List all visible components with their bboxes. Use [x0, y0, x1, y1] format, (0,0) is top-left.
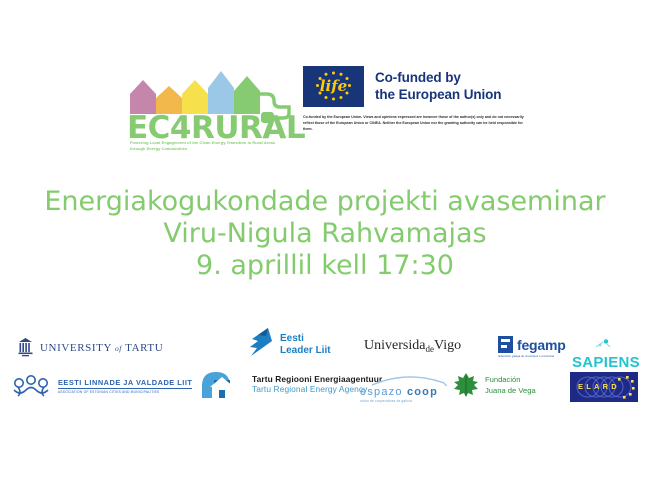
juana-line-1: Fundación	[485, 374, 536, 385]
partner-logo-elard: ELARD	[570, 372, 638, 402]
espazo-word-1: espazo	[360, 386, 403, 398]
partner-logo-sapiens: SAPIENS	[572, 336, 634, 371]
headline-line-3: 9. aprillil kell 17:30	[0, 250, 650, 282]
elvl-subtitle: ASSOCIATION OF ESTONIAN CITIES AND MUNIC…	[58, 390, 192, 394]
partner-logo-eesti-leader-liit: Eesti Leader Liit	[248, 328, 331, 358]
eu-funding-line1: Co-funded by	[375, 70, 501, 87]
eu-flag-life-icon: life	[303, 66, 364, 107]
juana-line-2: Juana de Vega	[485, 385, 536, 396]
espazo-arc-icon	[360, 374, 455, 386]
fegamp-subtitle: federación galega de municipios e provin…	[498, 355, 574, 358]
slide-canvas: EC4RURAL Fostering Local Engagement of t…	[0, 0, 650, 487]
sapiens-sparkle-icon	[572, 339, 634, 349]
tartu-word-tartu: TARTU	[125, 342, 163, 354]
oak-leaf-icon	[452, 372, 480, 398]
svg-text:life: life	[320, 77, 347, 95]
partner-logo-universidade-de-vigo: UniversidadeVigo	[364, 338, 461, 354]
fegamp-f-icon	[498, 336, 513, 353]
eu-funding-line2: the European Union	[375, 87, 501, 104]
elard-wordmark: ELARD	[578, 382, 620, 391]
ell-line-1: Eesti	[280, 333, 331, 345]
espazo-word-2: coop	[407, 386, 438, 398]
ec4rural-logo: EC4RURAL Fostering Local Engagement of t…	[127, 66, 292, 158]
eu-funding-text: Co-funded by the European Union	[375, 70, 501, 104]
sapiens-wordmark: SAPIENS	[572, 354, 634, 371]
tartu-word-university: UNIVERSITY	[40, 342, 112, 354]
partner-logo-university-of-tartu: UNIVERSITY of TARTU	[18, 338, 163, 358]
eu-funding-block: life Co-funded by the European Union Co-…	[303, 66, 533, 132]
espazo-wordmark: espazo coop	[360, 386, 455, 398]
headline-line-2: Viru-Nigula Rahvamajas	[0, 218, 650, 250]
juana-wordmark: Fundación Juana de Vega	[485, 374, 536, 396]
espazo-subtitle: unión de cooperativas de galicia	[360, 399, 455, 403]
tartu-word-of: of	[115, 344, 122, 353]
ornament-crest-icon	[10, 374, 52, 398]
partner-logo-fundacion-juana-de-vega: Fundación Juana de Vega	[452, 372, 536, 398]
ell-wordmark: Eesti Leader Liit	[280, 333, 331, 356]
leader-wing-icon	[248, 328, 276, 358]
house-4-icon	[208, 71, 234, 114]
partner-logo-espazo-coop: espazo coop unión de cooperativas de gal…	[360, 374, 455, 403]
elvl-wordmark: EESTI LINNADE JA VALDADE LIIT ASSOCIATIO…	[58, 378, 192, 395]
tartu-temple-icon	[18, 338, 33, 358]
elvl-title: EESTI LINNADE JA VALDADE LIIT	[58, 378, 192, 389]
headline-line-1: Energiakogukondade projekti avaseminar	[0, 186, 650, 218]
ec4rural-tagline: Fostering Local Engagement of the Clean …	[130, 140, 290, 152]
fegamp-wordmark: fegamp	[517, 337, 566, 353]
house-3-icon	[182, 80, 208, 114]
house-1-icon	[130, 80, 156, 114]
uvigo-part-1: Universida	[364, 338, 425, 353]
eu-disclaimer-text: Co-funded by the European Union. Views a…	[303, 115, 531, 132]
uvigo-part-de: de	[425, 344, 434, 354]
tartu-wordmark: UNIVERSITY of TARTU	[40, 342, 163, 354]
event-headline: Energiakogukondade projekti avaseminar V…	[0, 186, 650, 282]
ell-line-2: Leader Liit	[280, 345, 331, 357]
uvigo-part-3: Vigo	[434, 338, 461, 353]
partner-logo-fegamp: fegamp federación galega de municipios e…	[498, 336, 566, 353]
partner-logo-eesti-linnade-ja-valdade-liit: EESTI LINNADE JA VALDADE LIIT ASSOCIATIO…	[10, 374, 192, 398]
top-logo-band: EC4RURAL Fostering Local Engagement of t…	[0, 58, 650, 158]
partner-logo-strip: UNIVERSITY of TARTU EESTI LINNADE JA VAL…	[0, 326, 650, 416]
partner-logo-tartu-regional-energy-agency: Tartu Regiooni Energiaagentuur Tartu Reg…	[200, 366, 382, 402]
houses-icon	[130, 66, 260, 114]
energy-house-icon	[200, 366, 246, 402]
